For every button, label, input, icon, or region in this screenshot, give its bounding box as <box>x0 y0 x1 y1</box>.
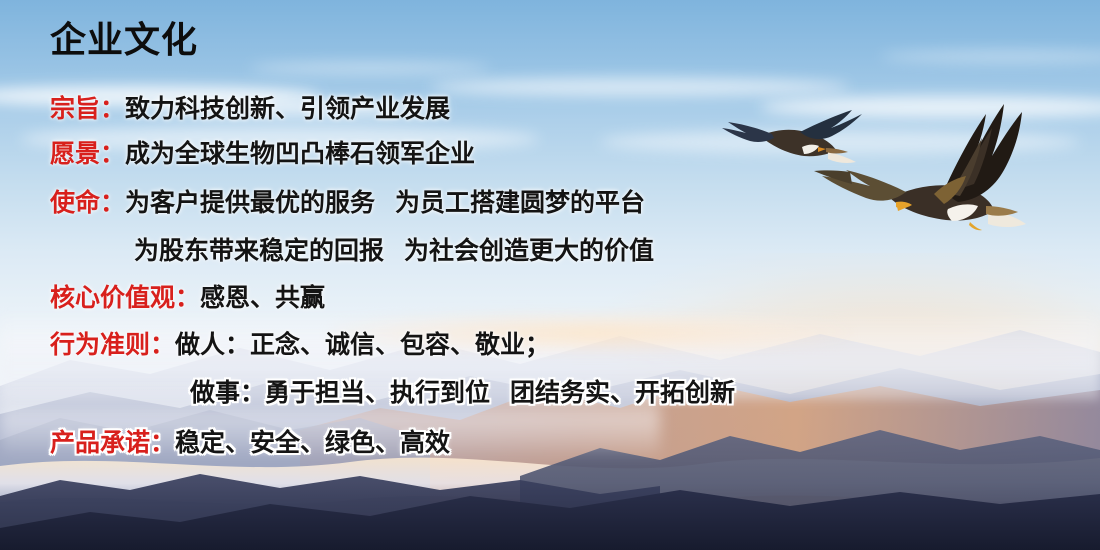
entry-mission: 使命：为客户提供最优的服务为员工搭建圆梦的平台 <box>50 190 645 215</box>
entry-purpose-text: 致力科技创新、引领产业发展 <box>125 94 450 123</box>
page-title: 企业文化 <box>50 22 198 58</box>
entry-vision: 愿景：成为全球生物凹凸棒石领军企业 <box>50 141 475 166</box>
mountain-scenery-image <box>0 290 1100 550</box>
entry-mission-text-b: 为员工搭建圆梦的平台 <box>395 188 645 217</box>
entry-product-promise: 产品承诺：稳定、安全、绿色、高效 <box>50 430 450 455</box>
entry-purpose: 宗旨：致力科技创新、引领产业发展 <box>50 96 450 121</box>
entry-vision-label: 愿景： <box>50 139 125 168</box>
entry-code-of-conduct: 行为准则：做人：正念、诚信、包容、敬业； <box>50 332 550 357</box>
entry-code-of-conduct-text-a: 做人：正念、诚信、包容、敬业； <box>175 330 550 359</box>
eagle-illustration <box>700 78 1100 278</box>
entry-code-of-conduct-text-b: 做事：勇于担当、执行到位 <box>190 378 490 407</box>
entry-mission-line2: 为股东带来稳定的回报为社会创造更大的价值 <box>134 238 654 263</box>
slide-canvas: 企业文化 宗旨：致力科技创新、引领产业发展 愿景：成为全球生物凹凸棒石领军企业 … <box>0 0 1100 550</box>
entry-mission-text-c: 为股东带来稳定的回报 <box>134 236 384 265</box>
entry-core-values-text: 感恩、共赢 <box>200 283 325 312</box>
entry-code-of-conduct-line2: 做事：勇于担当、执行到位团结务实、开拓创新 <box>190 380 735 405</box>
entry-code-of-conduct-text-c: 团结务实、开拓创新 <box>510 378 735 407</box>
entry-core-values-label: 核心价值观： <box>50 283 200 312</box>
entry-core-values: 核心价值观：感恩、共赢 <box>50 285 325 310</box>
entry-purpose-label: 宗旨： <box>50 94 125 123</box>
entry-vision-text: 成为全球生物凹凸棒石领军企业 <box>125 139 475 168</box>
entry-mission-label: 使命： <box>50 188 125 217</box>
entry-mission-text-a: 为客户提供最优的服务 <box>125 188 375 217</box>
entry-mission-text-d: 为社会创造更大的价值 <box>404 236 654 265</box>
eagle-small-icon <box>722 110 862 163</box>
entry-code-of-conduct-label: 行为准则： <box>50 330 175 359</box>
entry-product-promise-label: 产品承诺： <box>50 428 175 457</box>
entry-product-promise-text: 稳定、安全、绿色、高效 <box>175 428 450 457</box>
